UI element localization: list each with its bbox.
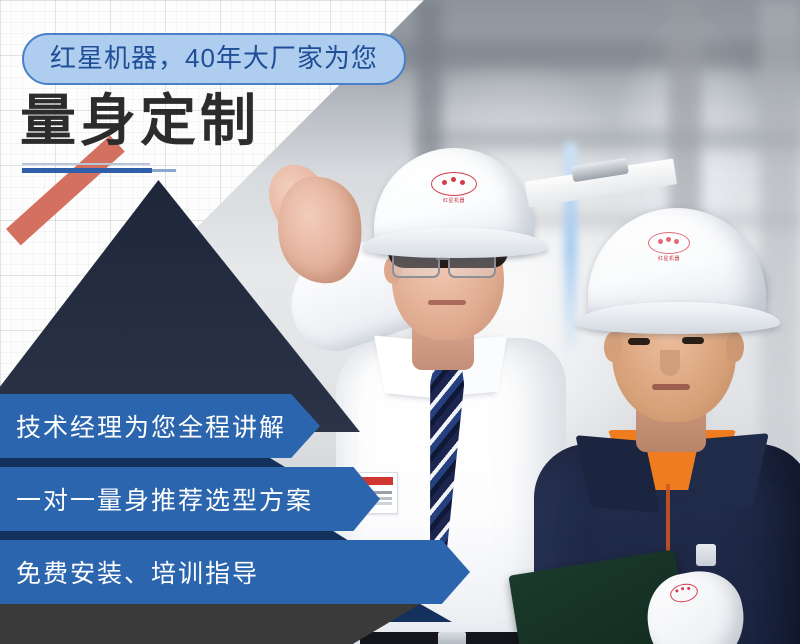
helmet-logo: 红星机器	[638, 232, 700, 262]
feature-banner-1-label: 技术经理为您全程讲解	[16, 408, 286, 444]
eye	[682, 337, 704, 344]
title-underline	[22, 168, 152, 173]
mouth	[428, 300, 466, 305]
logo-oval-icon	[431, 172, 477, 196]
helmet-logo: 红星机器	[422, 172, 486, 204]
feature-banner-1[interactable]: 技术经理为您全程讲解	[0, 394, 320, 458]
eye	[628, 338, 650, 345]
logo-oval-icon	[648, 232, 690, 254]
feature-banner-2[interactable]: 一对一量身推荐选型方案	[0, 467, 380, 531]
title-underline-light	[22, 163, 150, 165]
helmet-logo-caption: 红星机器	[638, 255, 700, 262]
worker-right-technician: 红星机器	[520, 180, 800, 644]
promo-banner: 红星机器 红	[0, 0, 800, 644]
nose	[660, 350, 680, 376]
feature-banner-2-label: 一对一量身推荐选型方案	[16, 481, 313, 517]
page-title: 量身定制	[20, 93, 260, 149]
feature-banner-3[interactable]: 免费安装、培训指导	[0, 540, 470, 604]
helmet-logo-caption: 红星机器	[422, 197, 486, 204]
title-underline-tail	[152, 169, 176, 172]
ear	[604, 332, 622, 362]
belt-buckle	[438, 632, 466, 644]
bottom-dark-slab	[0, 604, 420, 644]
ear	[726, 332, 744, 362]
pocket-patch	[696, 544, 716, 566]
feature-banner-3-label: 免费安装、培训指导	[16, 554, 259, 590]
headline-pill: 红星机器，40年大厂家为您	[22, 33, 406, 85]
mouth	[652, 384, 690, 390]
